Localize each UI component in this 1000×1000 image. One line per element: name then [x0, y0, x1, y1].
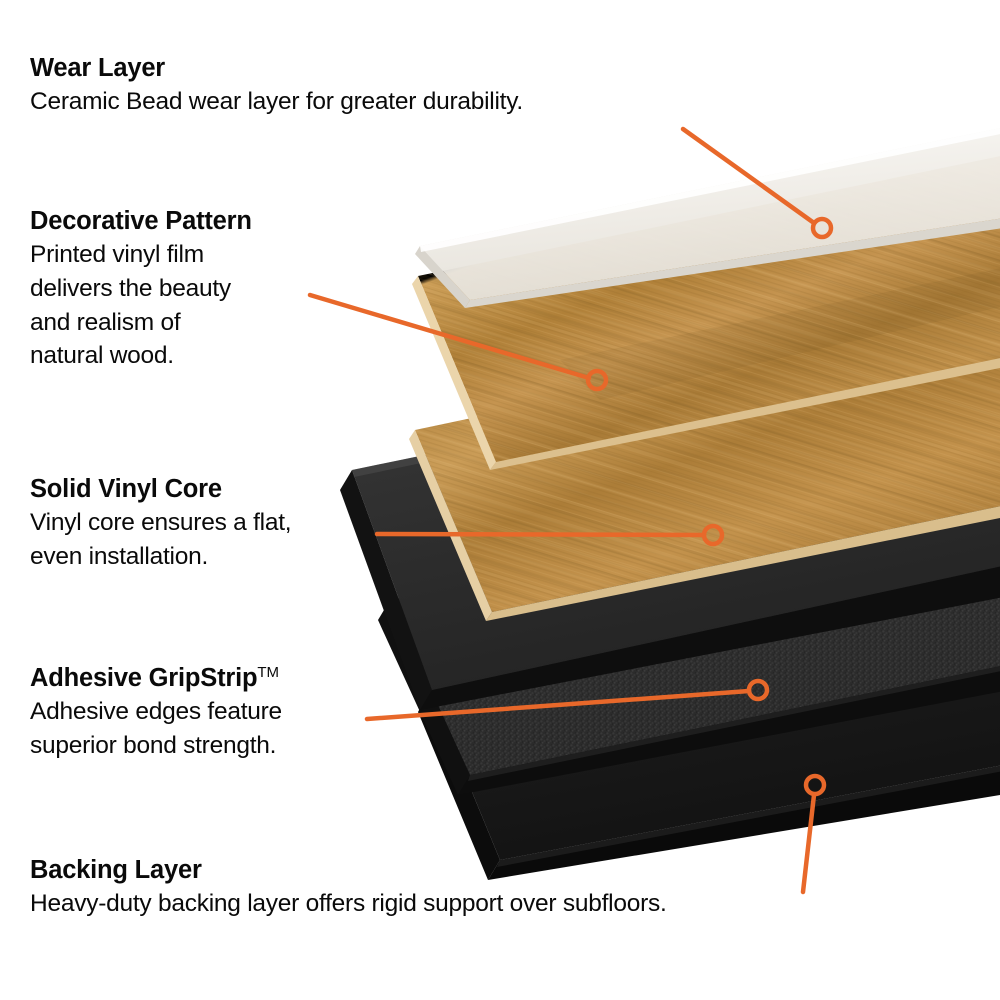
label-body-adhesive-gripstrip: Adhesive edges feature superior bond str…	[30, 695, 282, 763]
callout-marker-backing	[806, 776, 824, 794]
label-body-decorative-pattern: Printed vinyl film delivers the beauty a…	[30, 238, 252, 373]
callout-marker-gripstrip	[749, 681, 767, 699]
callout-line-decorative	[310, 295, 589, 378]
label-title-solid-vinyl-core: Solid Vinyl Core	[30, 474, 291, 504]
label-title-adhesive-gripstrip: Adhesive GripStripTM	[30, 663, 282, 693]
label-title-backing-layer: Backing Layer	[30, 855, 667, 885]
product-layer-diagram: Wear Layer Ceramic Bead wear layer for g…	[0, 0, 1000, 1000]
label-block-solid-vinyl-core: Solid Vinyl Core Vinyl core ensures a fl…	[30, 474, 291, 574]
label-title-decorative-pattern: Decorative Pattern	[30, 206, 252, 236]
callout-marker-decorative	[588, 371, 606, 389]
label-title-adhesive-gripstrip-text: Adhesive GripStrip	[30, 664, 257, 692]
trademark-superscript: TM	[257, 664, 279, 681]
label-block-wear-layer: Wear Layer Ceramic Bead wear layer for g…	[30, 53, 523, 119]
label-block-backing-layer: Backing Layer Heavy-duty backing layer o…	[30, 855, 667, 921]
label-body-wear-layer: Ceramic Bead wear layer for greater dura…	[30, 85, 523, 119]
callout-line-backing	[803, 795, 814, 892]
callout-marker-core	[704, 526, 722, 544]
label-block-decorative-pattern: Decorative Pattern Printed vinyl film de…	[30, 206, 252, 373]
label-body-solid-vinyl-core: Vinyl core ensures a flat, even installa…	[30, 506, 291, 574]
callout-line-wear	[683, 129, 814, 223]
label-block-adhesive-gripstrip: Adhesive GripStripTM Adhesive edges feat…	[30, 663, 282, 763]
callout-marker-wear	[813, 219, 831, 237]
callout-line-gripstrip	[367, 691, 749, 719]
callout-line-core	[377, 534, 704, 535]
label-title-wear-layer: Wear Layer	[30, 53, 523, 83]
label-body-backing-layer: Heavy-duty backing layer offers rigid su…	[30, 887, 667, 921]
